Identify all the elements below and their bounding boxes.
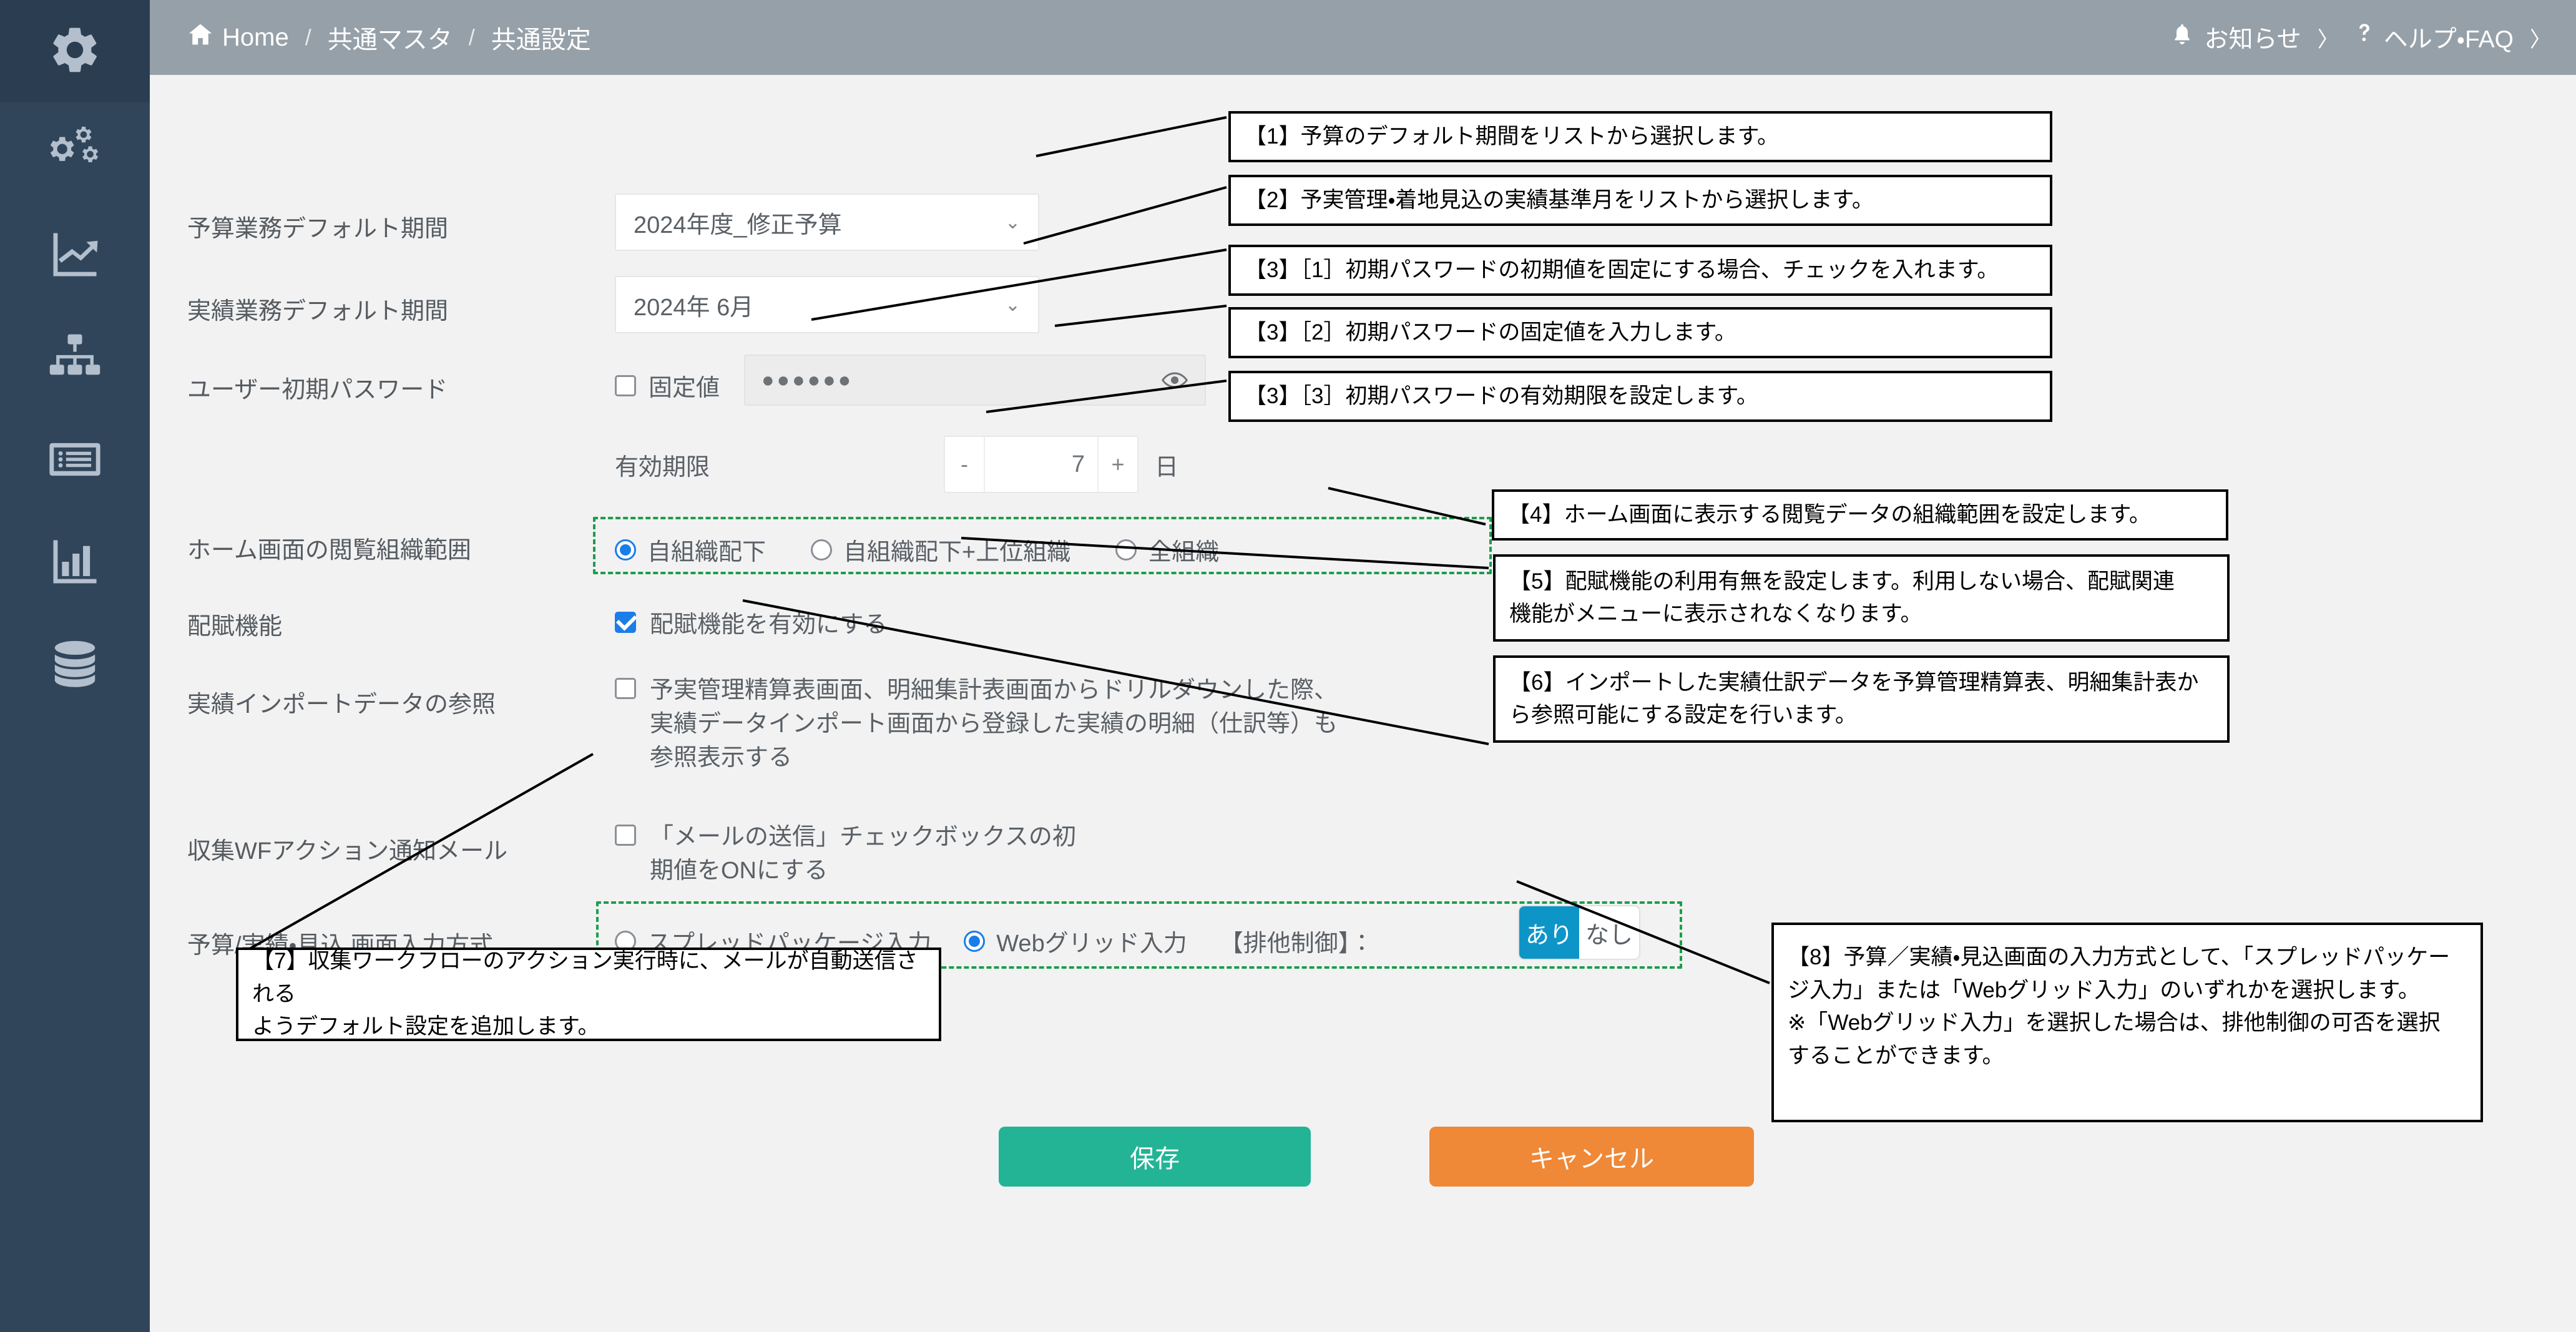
- breadcrumb-separator-2: /: [465, 24, 479, 51]
- list-card-icon: [46, 431, 104, 491]
- radio-icon-web-grid[interactable]: [964, 931, 985, 952]
- org-hierarchy-icon: [46, 328, 104, 389]
- fixed-value-label: 固定値: [649, 368, 720, 403]
- callout-3: 【3】［1］初期パスワードの初期値を固定にする場合、チェックを入れます。: [1228, 245, 2052, 296]
- bar-chart-icon: [46, 533, 104, 594]
- callout-10-line3: ※「Webグリッド入力」を選択した場合は、排他制御の可否を選択: [1788, 1007, 2450, 1040]
- initial-password-input[interactable]: ●●●●●●: [744, 355, 1206, 406]
- callout-7-line1: 【5】配賦機能の利用有無を設定します。利用しない場合、配賦関連: [1509, 566, 2175, 599]
- password-masked-value: ●●●●●●: [762, 368, 853, 393]
- breadcrumb: Home / 共通マスタ / 共通設定: [187, 19, 591, 56]
- actual-import-checkbox[interactable]: [615, 678, 636, 699]
- expiry-stepper[interactable]: - 7 +: [944, 436, 1139, 493]
- sidebar-item-organization[interactable]: [0, 307, 150, 409]
- breadcrumb-item-home[interactable]: Home: [187, 21, 289, 54]
- gears-settings-icon: [46, 124, 104, 184]
- notice-button[interactable]: お知らせ: [2170, 20, 2301, 55]
- wf-mail-checkbox[interactable]: [615, 825, 636, 846]
- callout-2: 【2】予実管理・着地見込の実績基準月をリストから選択します。: [1228, 175, 2052, 226]
- breadcrumb-item-common-master[interactable]: 共通マスタ: [328, 19, 453, 56]
- allocation-checkbox-label: 配賦機能を有効にする: [650, 605, 887, 639]
- callout-6: 【4】ホーム画面に表示する閲覧データの組織範囲を設定します。: [1492, 489, 2228, 541]
- help-faq-button[interactable]: ヘルプ・FAQ: [2355, 20, 2514, 55]
- callout-8-line1: 【6】インポートした実績仕訳データを予算管理精算表、明細集計表か: [1509, 667, 2198, 700]
- question-mark-icon: [2355, 22, 2374, 52]
- callout-2-line1: 【2】予実管理・着地見込の実績基準月をリストから選択します。: [1245, 184, 1874, 217]
- exclusive-control-toggle[interactable]: あり なし: [1519, 906, 1639, 959]
- cancel-button[interactable]: キャンセル: [1429, 1127, 1754, 1187]
- allocation-checkbox[interactable]: [615, 612, 636, 633]
- sidebar-item-gear[interactable]: [0, 0, 150, 102]
- expiry-decrement-button[interactable]: -: [945, 437, 985, 492]
- callout-7-line2: 機能がメニューに表示されなくなります。: [1509, 598, 2175, 631]
- budget-period-value: 2024年度_修正予算: [634, 205, 842, 240]
- chevron-right-icon-help[interactable]: 〉: [2530, 22, 2551, 53]
- wf-mail-checkbox-row[interactable]: 「メールの送信」チェックボックスの初 期値をONにする: [615, 821, 1076, 888]
- callout-4: 【3】［2］初期パスワードの固定値を入力します。: [1228, 307, 2052, 358]
- sidebar-item-reports[interactable]: [0, 512, 150, 614]
- chevron-right-icon-notice[interactable]: 〉: [2318, 22, 2339, 53]
- callout-8-line2: ら参照可能にする設定を行います。: [1509, 699, 2198, 732]
- toggle-option-ari[interactable]: あり: [1519, 906, 1579, 959]
- radio-icon-own-and-parent-org[interactable]: [811, 539, 832, 561]
- label-allocation-feature: 配賦機能: [187, 607, 282, 641]
- label-expiry: 有効期限: [615, 448, 710, 482]
- callout-5-line1: 【3】［3］初期パスワードの有効期限を設定します。: [1245, 380, 1758, 413]
- radio-icon-all-org[interactable]: [1115, 539, 1137, 561]
- header-actions: お知らせ 〉 ヘルプ・FAQ 〉: [2170, 20, 2551, 55]
- label-actual-default-period: 実績業務デフォルト期間: [187, 291, 448, 326]
- home-icon: [187, 21, 213, 54]
- home-org-scope-radio-group[interactable]: 自組織配下 自組織配下+上位組織 全組織: [615, 532, 1219, 567]
- sidebar-item-settings[interactable]: [0, 102, 150, 205]
- top-header: Home / 共通マスタ / 共通設定 お知らせ 〉 ヘルプ・FAQ 〉: [150, 0, 2576, 75]
- actual-period-value: 2024年 6月: [634, 288, 753, 322]
- expiry-value[interactable]: 7: [985, 437, 1097, 492]
- actual-import-text-line2: 実績データインポート画面から登録した実績の明細（仕訳等）も: [650, 708, 1338, 742]
- exclusive-control-label: 【排他制御】：: [1220, 924, 1374, 958]
- radio-option-own-and-parent-org[interactable]: 自組織配下+上位組織: [811, 532, 1070, 567]
- callout-5: 【3】［3］初期パスワードの有効期限を設定します。: [1228, 371, 2052, 422]
- radio-label-all-org: 全組織: [1148, 532, 1219, 567]
- toggle-option-nashi[interactable]: なし: [1579, 906, 1639, 959]
- database-icon: [46, 635, 104, 696]
- sidebar-item-analytics[interactable]: [0, 205, 150, 307]
- label-wf-action-mail: 収集WFアクション通知メール: [187, 831, 507, 866]
- radio-label-own-and-parent-org: 自組織配下+上位組織: [843, 532, 1070, 567]
- save-button[interactable]: 保存: [999, 1127, 1311, 1187]
- notice-label: お知らせ: [2204, 20, 2301, 55]
- wf-mail-text-line2: 期値をONにする: [650, 855, 1076, 888]
- breadcrumb-separator-1: /: [301, 24, 315, 51]
- callout-1-line1: 【1】予算のデフォルト期間をリストから選択します。: [1245, 120, 1779, 154]
- sidebar-item-database[interactable]: [0, 614, 150, 717]
- expiry-unit-label: 日: [1155, 448, 1178, 482]
- allocation-checkbox-row[interactable]: 配賦機能を有効にする: [615, 605, 887, 639]
- radio-label-web-grid: Webグリッド入力: [996, 924, 1187, 958]
- callout-10-line1: 【8】予算／実績・見込画面の入力方式として、「スプレッドパッケー: [1788, 941, 2450, 974]
- callout-10-line2: ジ入力」または「Webグリッド入力」のいずれかを選択します。: [1788, 974, 2450, 1007]
- expiry-increment-button[interactable]: +: [1097, 437, 1137, 492]
- trend-chart-icon: [46, 226, 104, 286]
- label-initial-password: ユーザー初期パスワード: [187, 370, 448, 404]
- actual-period-select[interactable]: 2024年 6月 ⌄: [615, 276, 1039, 333]
- sidebar-item-list[interactable]: [0, 409, 150, 512]
- bell-icon: [2170, 22, 2194, 52]
- radio-option-all-org[interactable]: 全組織: [1115, 532, 1219, 567]
- chevron-down-icon-actual: ⌄: [1005, 294, 1021, 316]
- callout-9: 【7】収集ワークフローのアクション実行時に、メールが自動送信される ようデフォル…: [236, 948, 941, 1041]
- actual-import-text-line3: 参照表示する: [650, 742, 1338, 775]
- callout-10: 【8】予算／実績・見込画面の入力方式として、「スプレッドパッケー ジ入力」または…: [1771, 923, 2483, 1122]
- fixed-value-checkbox-row[interactable]: 固定値: [615, 368, 720, 403]
- radio-option-web-grid[interactable]: Webグリッド入力: [964, 924, 1187, 958]
- label-actual-import-reference: 実績インポートデータの参照: [187, 685, 496, 719]
- label-home-org-scope: ホーム画面の閲覧組織範囲: [187, 531, 471, 565]
- eye-icon[interactable]: [1161, 371, 1188, 389]
- callout-1: 【1】予算のデフォルト期間をリストから選択します。: [1228, 111, 2052, 162]
- breadcrumb-label-home: Home: [222, 24, 289, 52]
- wf-mail-text-line1: 「メールの送信」チェックボックスの初: [650, 821, 1076, 855]
- label-budget-default-period: 予算業務デフォルト期間: [187, 209, 448, 243]
- actual-import-text-line1: 予実管理精算表画面、明細集計表画面からドリルダウンした際、: [650, 674, 1338, 708]
- callout-10-line4: することができます。: [1788, 1040, 2450, 1073]
- radio-option-own-org[interactable]: 自組織配下: [615, 532, 766, 567]
- radio-icon-own-org[interactable]: [615, 539, 636, 561]
- radio-label-own-org: 自組織配下: [647, 532, 766, 567]
- callout-3-line1: 【3】［1］初期パスワードの初期値を固定にする場合、チェックを入れます。: [1245, 254, 1999, 287]
- callout-4-line1: 【3】［2］初期パスワードの固定値を入力します。: [1245, 316, 1736, 350]
- actual-import-checkbox-row[interactable]: 予実管理精算表画面、明細集計表画面からドリルダウンした際、 実績データインポート…: [615, 674, 1338, 775]
- breadcrumb-item-common-settings[interactable]: 共通設定: [491, 19, 591, 56]
- callout-6-line1: 【4】ホーム画面に表示する閲覧データの組織範囲を設定します。: [1508, 499, 2151, 532]
- help-faq-label: ヘルプ・FAQ: [2384, 20, 2514, 55]
- callout-9-line2: ようデフォルト設定を追加します。: [252, 1011, 925, 1044]
- fixed-value-checkbox[interactable]: [615, 375, 636, 396]
- callout-7: 【5】配賦機能の利用有無を設定します。利用しない場合、配賦関連 機能がメニューに…: [1493, 554, 2230, 642]
- gear-icon: [47, 22, 102, 81]
- chevron-down-icon-budget: ⌄: [1005, 212, 1021, 233]
- callout-8: 【6】インポートした実績仕訳データを予算管理精算表、明細集計表か ら参照可能にす…: [1493, 655, 2230, 743]
- sidebar: [0, 0, 150, 1332]
- budget-period-select[interactable]: 2024年度_修正予算 ⌄: [615, 193, 1039, 251]
- callout-9-line1: 【7】収集ワークフローのアクション実行時に、メールが自動送信される: [252, 945, 925, 1011]
